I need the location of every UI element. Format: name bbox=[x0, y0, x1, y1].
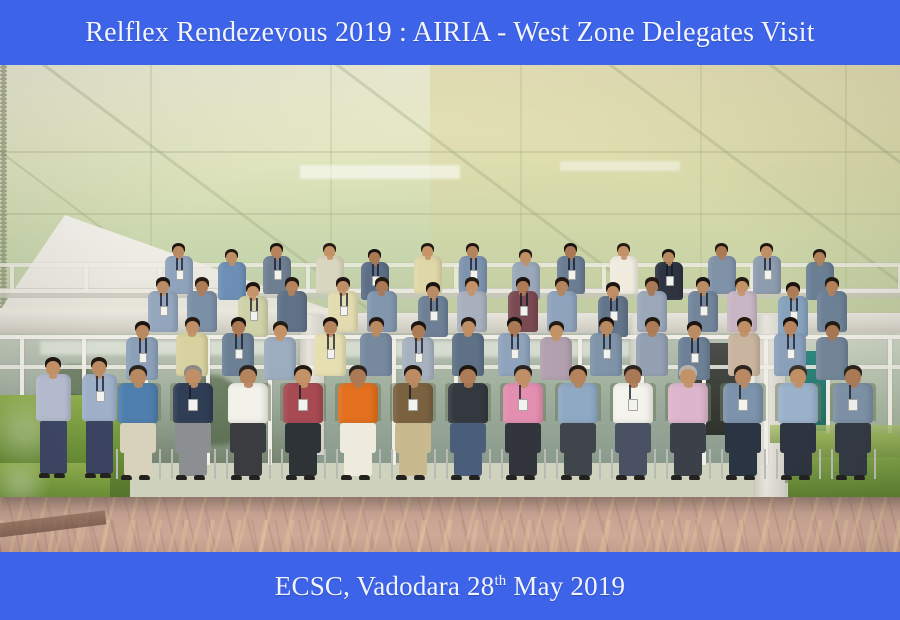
chair-leg bbox=[654, 449, 656, 479]
delegate-torso bbox=[448, 383, 488, 423]
delegate-id-badge bbox=[160, 306, 168, 316]
delegate-id-badge bbox=[666, 276, 674, 285]
chair-leg bbox=[269, 449, 271, 479]
delegate-lanyard bbox=[181, 258, 183, 271]
delegate-shoe bbox=[506, 475, 517, 480]
delegate-id-badge bbox=[139, 353, 148, 364]
delegate-lanyard bbox=[102, 376, 104, 392]
delegate-shoe bbox=[286, 475, 297, 480]
canopy-glazing-line bbox=[0, 151, 900, 153]
delegate-lanyard bbox=[279, 258, 281, 271]
footer-banner: ECSC, Vadodara 28th May 2019 bbox=[0, 552, 900, 620]
delegate-shoe bbox=[359, 475, 370, 480]
delegate-torso bbox=[778, 383, 818, 423]
delegate-lanyard bbox=[666, 264, 668, 277]
delegate-id-badge bbox=[568, 270, 576, 279]
delegate-id-badge bbox=[340, 306, 348, 316]
delegate-lanyard bbox=[603, 334, 605, 349]
caption-place-date: ECSC, Vadodara 28 bbox=[275, 571, 495, 601]
delegate-legs bbox=[86, 421, 112, 474]
page-title: Relflex Rendezevous 2019 : AIRIA - West … bbox=[85, 17, 814, 49]
delegate-lanyard bbox=[697, 338, 699, 353]
delegate-shins bbox=[454, 452, 482, 476]
delegate-shoe bbox=[414, 475, 425, 480]
delegate-shoe bbox=[726, 475, 737, 480]
facade-mullion-vertical bbox=[306, 265, 310, 291]
delegate-collar bbox=[574, 383, 583, 388]
delegate-lap bbox=[120, 423, 155, 453]
delegate-lanyard bbox=[520, 293, 522, 307]
photo-caption: ECSC, Vadodara 28th May 2019 bbox=[275, 571, 625, 602]
delegate-lanyard bbox=[430, 298, 432, 312]
delegate-lanyard bbox=[671, 264, 673, 277]
delegate-lap bbox=[670, 423, 705, 453]
delegate-id-badge bbox=[520, 306, 528, 316]
delegate-shoe bbox=[249, 475, 260, 480]
delegate-shins bbox=[564, 452, 592, 476]
glass-reflection bbox=[300, 165, 460, 179]
delegate-id-badge bbox=[327, 349, 336, 360]
delegate-shoe bbox=[341, 475, 352, 480]
delegate-shins bbox=[619, 452, 647, 476]
delegate-lanyard bbox=[706, 293, 708, 307]
delegate-lanyard bbox=[764, 258, 766, 271]
delegate-lanyard bbox=[409, 385, 411, 400]
delegate-shoe bbox=[799, 475, 810, 480]
chair-leg bbox=[379, 449, 381, 479]
facade-mullion-vertical bbox=[454, 265, 458, 291]
delegate-shins bbox=[784, 452, 812, 476]
delegate-lanyard bbox=[145, 338, 147, 353]
caption-month-year: May 2019 bbox=[506, 571, 625, 601]
delegate-id-badge bbox=[430, 311, 438, 321]
chair-leg bbox=[721, 449, 723, 479]
delegate-torso bbox=[708, 256, 736, 294]
delegate-id-badge bbox=[764, 270, 772, 279]
chair-leg bbox=[434, 449, 436, 479]
delegate-lanyard bbox=[629, 385, 631, 400]
delegate-shins bbox=[839, 452, 867, 476]
delegate-shoe bbox=[524, 475, 535, 480]
delegate-lanyard bbox=[340, 293, 342, 307]
chair-leg bbox=[159, 449, 161, 479]
chair-leg bbox=[446, 449, 448, 479]
delegate-shoe bbox=[231, 475, 242, 480]
delegate-shoe bbox=[836, 475, 847, 480]
delegate-id-badge bbox=[603, 349, 612, 360]
delegate-lanyard bbox=[739, 385, 741, 400]
delegate-lap bbox=[285, 423, 320, 453]
chair-leg bbox=[611, 449, 613, 479]
delegate-id-badge bbox=[274, 270, 282, 279]
delegate-lanyard bbox=[573, 258, 575, 271]
delegate-lap bbox=[450, 423, 485, 453]
facade-mullion-vertical bbox=[84, 265, 88, 291]
chair-leg bbox=[324, 449, 326, 479]
delegate-shoe bbox=[579, 475, 590, 480]
delegate-lanyard bbox=[475, 258, 477, 271]
delegate-id-badge bbox=[235, 349, 244, 360]
ground-shadow bbox=[0, 497, 900, 513]
header-banner: Relflex Rendezevous 2019 : AIRIA - West … bbox=[0, 0, 900, 65]
delegate-lanyard bbox=[517, 334, 519, 349]
chair-leg bbox=[116, 449, 118, 479]
chair-leg bbox=[489, 449, 491, 479]
delegate-collar bbox=[134, 383, 143, 388]
delegate-id-badge bbox=[408, 399, 418, 411]
delegate-shoe bbox=[139, 475, 150, 480]
delegate-id-badge bbox=[700, 306, 708, 316]
delegate-id-badge bbox=[628, 399, 638, 411]
delegate-shoe bbox=[396, 475, 407, 480]
delegate-lanyard bbox=[421, 338, 423, 353]
delegate-shins bbox=[124, 452, 152, 476]
delegate-shoe bbox=[744, 475, 755, 480]
chair-leg bbox=[819, 449, 821, 479]
delegate-collar bbox=[684, 383, 693, 388]
delegate-shoe bbox=[100, 473, 111, 478]
canopy-glazing-line bbox=[845, 65, 847, 295]
delegate-lanyard bbox=[327, 334, 329, 349]
chair-leg bbox=[281, 449, 283, 479]
chair-leg bbox=[336, 449, 338, 479]
delegate-shoe bbox=[194, 475, 205, 480]
delegate-lap bbox=[780, 423, 815, 453]
delegate-id-badge bbox=[188, 399, 198, 411]
delegate-lanyard bbox=[470, 258, 472, 271]
delegate-lanyard bbox=[299, 385, 301, 400]
chair-leg bbox=[831, 449, 833, 479]
delegate-lap bbox=[340, 423, 375, 453]
chair-leg bbox=[214, 449, 216, 479]
delegate-id-badge bbox=[511, 349, 520, 360]
delegate-shins bbox=[509, 452, 537, 476]
delegate-lanyard bbox=[241, 334, 243, 349]
delegate-id-badge bbox=[96, 391, 105, 402]
delegate-shoe bbox=[39, 473, 50, 478]
event-photo-banner: Relflex Rendezevous 2019 : AIRIA - West … bbox=[0, 0, 900, 620]
delegate-torso bbox=[218, 262, 246, 300]
delegate-shoe bbox=[671, 475, 682, 480]
delegate-shoe bbox=[54, 473, 65, 478]
delegate-torso bbox=[118, 383, 158, 423]
delegate-legs bbox=[40, 421, 66, 474]
delegate-shoe bbox=[634, 475, 645, 480]
delegate-lanyard bbox=[160, 293, 162, 307]
delegate-shoe bbox=[689, 475, 700, 480]
chair-leg bbox=[764, 449, 766, 479]
delegate-lanyard bbox=[377, 264, 379, 277]
delegate-torso bbox=[668, 383, 708, 423]
delegate-id-badge bbox=[415, 353, 424, 364]
delegate-torso bbox=[228, 383, 268, 423]
delegate-shoe bbox=[469, 475, 480, 480]
delegate-shins bbox=[344, 452, 372, 476]
delegate-lap bbox=[560, 423, 595, 453]
delegate-torso bbox=[338, 383, 378, 423]
delegate-lanyard bbox=[616, 298, 618, 312]
delegate-shoe bbox=[304, 475, 315, 480]
delegate-lanyard bbox=[526, 293, 528, 307]
delegate-collar bbox=[354, 383, 363, 388]
delegate-lanyard bbox=[787, 334, 789, 349]
delegate-lap bbox=[615, 423, 650, 453]
paver-pattern bbox=[0, 520, 900, 552]
delegate-id-badge bbox=[738, 399, 748, 411]
delegate-torso bbox=[558, 383, 598, 423]
delegate-lanyard bbox=[415, 338, 417, 353]
chair-leg bbox=[874, 449, 876, 479]
facade-mullion-vertical bbox=[10, 265, 14, 291]
delegate-shins bbox=[179, 452, 207, 476]
delegate-id-badge bbox=[518, 399, 528, 411]
delegate-lanyard bbox=[849, 385, 851, 400]
delegate-lanyard bbox=[96, 376, 98, 392]
delegate-shoe bbox=[561, 475, 572, 480]
group-photograph bbox=[0, 65, 900, 552]
delegate-id-badge bbox=[691, 353, 700, 364]
delegate-lanyard bbox=[139, 338, 141, 353]
delegate-shins bbox=[674, 452, 702, 476]
delegate-lanyard bbox=[796, 298, 798, 312]
delegate-lap bbox=[230, 423, 265, 453]
chair-leg bbox=[391, 449, 393, 479]
delegate-lap bbox=[505, 423, 540, 453]
delegate-collar bbox=[49, 374, 57, 379]
delegate-id-badge bbox=[848, 399, 858, 411]
delegate-lanyard bbox=[256, 298, 258, 312]
delegate-lap bbox=[835, 423, 870, 453]
chair-leg bbox=[776, 449, 778, 479]
chair-leg bbox=[544, 449, 546, 479]
canopy-glazing-line bbox=[0, 213, 900, 215]
delegate-id-badge bbox=[787, 349, 796, 360]
delegate-lanyard bbox=[235, 334, 237, 349]
delegate-lanyard bbox=[790, 298, 792, 312]
delegate-lanyard bbox=[793, 334, 795, 349]
chair-leg bbox=[226, 449, 228, 479]
delegate-lanyard bbox=[769, 258, 771, 271]
delegate-shoe bbox=[121, 475, 132, 480]
delegate-lanyard bbox=[274, 258, 276, 271]
delegate-lanyard bbox=[176, 258, 178, 271]
delegate-id-badge bbox=[298, 399, 308, 411]
delegate-lanyard bbox=[519, 385, 521, 400]
delegate-shins bbox=[289, 452, 317, 476]
delegate-lanyard bbox=[333, 334, 335, 349]
delegate-lanyard bbox=[166, 293, 168, 307]
glass-reflection bbox=[560, 161, 680, 171]
delegate-lanyard bbox=[189, 385, 191, 400]
chair-leg bbox=[501, 449, 503, 479]
delegate-shoe bbox=[176, 475, 187, 480]
chair-leg bbox=[666, 449, 668, 479]
delegate-lap bbox=[175, 423, 210, 453]
delegate-lanyard bbox=[609, 334, 611, 349]
delegate-lanyard bbox=[568, 258, 570, 271]
delegate-lanyard bbox=[691, 338, 693, 353]
delegate-shoe bbox=[781, 475, 792, 480]
chair-leg bbox=[171, 449, 173, 479]
delegate-lanyard bbox=[250, 298, 252, 312]
delegate-torso bbox=[36, 374, 71, 421]
chair-leg bbox=[709, 449, 711, 479]
delegate-collar bbox=[794, 383, 803, 388]
delegate-shins bbox=[729, 452, 757, 476]
delegate-lanyard bbox=[346, 293, 348, 307]
delegate-torso bbox=[540, 337, 572, 381]
delegate-shins bbox=[399, 452, 427, 476]
canopy-glazing-line bbox=[700, 65, 702, 295]
chair-leg bbox=[599, 449, 601, 479]
caption-ordinal-suffix: th bbox=[494, 573, 506, 589]
delegate-lanyard bbox=[610, 298, 612, 312]
delegate-shins bbox=[234, 452, 262, 476]
delegate-lanyard bbox=[511, 334, 513, 349]
delegate-id-badge bbox=[176, 270, 184, 279]
delegate-lap bbox=[725, 423, 760, 453]
delegate-id-badge bbox=[250, 311, 258, 321]
chair-leg bbox=[556, 449, 558, 479]
delegate-lanyard bbox=[372, 264, 374, 277]
delegate-shoe bbox=[451, 475, 462, 480]
delegate-lanyard bbox=[700, 293, 702, 307]
delegate-shoe bbox=[854, 475, 865, 480]
delegate-collar bbox=[244, 383, 253, 388]
delegate-torso bbox=[264, 337, 296, 381]
delegate-shoe bbox=[616, 475, 627, 480]
delegate-lanyard bbox=[436, 298, 438, 312]
delegate-collar bbox=[464, 383, 473, 388]
delegate-lap bbox=[395, 423, 430, 453]
delegate-shoe bbox=[85, 473, 96, 478]
